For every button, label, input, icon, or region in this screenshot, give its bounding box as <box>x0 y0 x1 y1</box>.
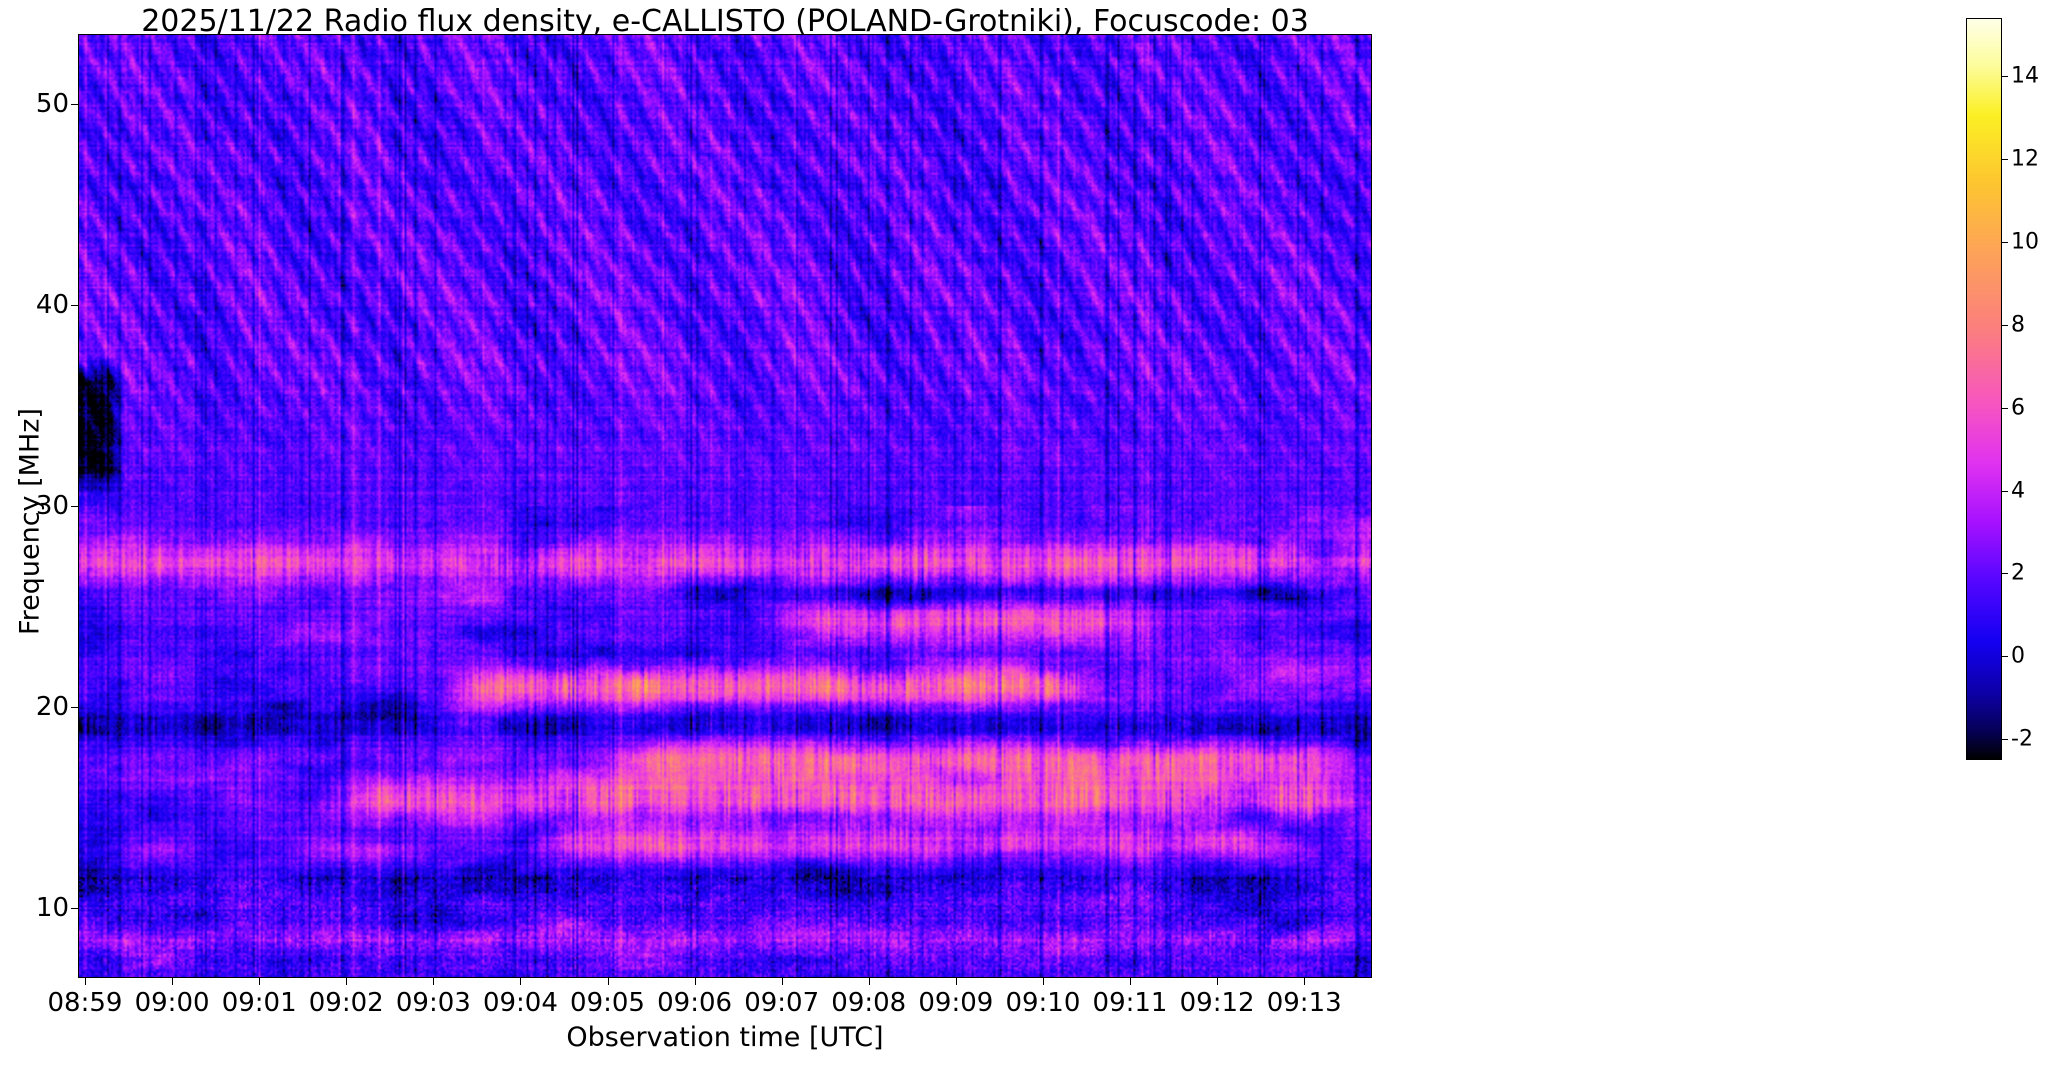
colorbar-tick-mark <box>2002 491 2008 492</box>
x-tick-label: 09:06 <box>657 988 732 1018</box>
colorbar-tick-label: 6 <box>2011 395 2025 420</box>
y-tick-label: 40 <box>36 290 69 320</box>
x-tick-mark <box>782 978 783 985</box>
x-tick-label: 09:11 <box>1093 988 1168 1018</box>
x-tick-label: 09:08 <box>831 988 906 1018</box>
spectrogram-plot-area <box>78 34 1372 978</box>
y-tick-mark <box>71 506 78 507</box>
x-tick-label: 09:03 <box>396 988 471 1018</box>
x-tick-label: 09:02 <box>309 988 384 1018</box>
x-tick-mark <box>1217 978 1218 985</box>
x-tick-label: 09:07 <box>744 988 819 1018</box>
spectrogram-image <box>79 35 1371 977</box>
y-tick-mark <box>71 305 78 306</box>
x-tick-label: 09:12 <box>1180 988 1255 1018</box>
y-tick-label: 10 <box>36 893 69 923</box>
x-tick-mark <box>1043 978 1044 985</box>
colorbar-tick-label: 12 <box>2011 146 2039 171</box>
colorbar <box>1966 18 2002 760</box>
x-tick-mark <box>259 978 260 985</box>
colorbar-tick-label: 10 <box>2011 229 2039 254</box>
colorbar-tick-mark <box>2002 76 2008 77</box>
colorbar-tick-label: 2 <box>2011 561 2025 586</box>
colorbar-tick-label: -2 <box>2011 727 2033 752</box>
x-tick-label: 09:05 <box>570 988 645 1018</box>
colorbar-gradient <box>1967 19 2001 759</box>
x-tick-label: 08:59 <box>48 988 123 1018</box>
y-tick-label: 50 <box>36 89 69 119</box>
y-tick-mark <box>71 707 78 708</box>
x-tick-mark <box>869 978 870 985</box>
colorbar-tick-label: 14 <box>2011 64 2039 89</box>
x-tick-mark <box>346 978 347 985</box>
x-tick-label: 09:09 <box>918 988 993 1018</box>
x-tick-mark <box>1304 978 1305 985</box>
colorbar-tick-mark <box>2002 325 2008 326</box>
colorbar-tick-mark <box>2002 408 2008 409</box>
colorbar-tick-label: 4 <box>2011 478 2025 503</box>
x-tick-label: 09:01 <box>222 988 297 1018</box>
y-axis-label: Frequency [MHz] <box>15 322 46 722</box>
colorbar-tick-mark <box>2002 242 2008 243</box>
colorbar-tick-mark <box>2002 573 2008 574</box>
x-tick-mark <box>520 978 521 985</box>
figure-root: 2025/11/22 Radio flux density, e-CALLIST… <box>0 0 2047 1067</box>
x-tick-label: 09:13 <box>1267 988 1342 1018</box>
colorbar-tick-mark <box>2002 656 2008 657</box>
x-tick-mark <box>956 978 957 985</box>
x-tick-label: 09:04 <box>483 988 558 1018</box>
x-tick-mark <box>85 978 86 985</box>
y-tick-mark <box>71 104 78 105</box>
colorbar-tick-label: 8 <box>2011 312 2025 337</box>
x-tick-mark <box>172 978 173 985</box>
x-tick-mark <box>433 978 434 985</box>
x-tick-mark <box>1130 978 1131 985</box>
x-tick-mark <box>608 978 609 985</box>
x-axis-label: Observation time [UTC] <box>78 1022 1372 1053</box>
y-tick-mark <box>71 908 78 909</box>
x-tick-label: 09:00 <box>135 988 210 1018</box>
colorbar-tick-mark <box>2002 159 2008 160</box>
x-tick-mark <box>695 978 696 985</box>
colorbar-tick-mark <box>2002 739 2008 740</box>
colorbar-tick-label: 0 <box>2011 644 2025 669</box>
x-tick-label: 09:10 <box>1005 988 1080 1018</box>
